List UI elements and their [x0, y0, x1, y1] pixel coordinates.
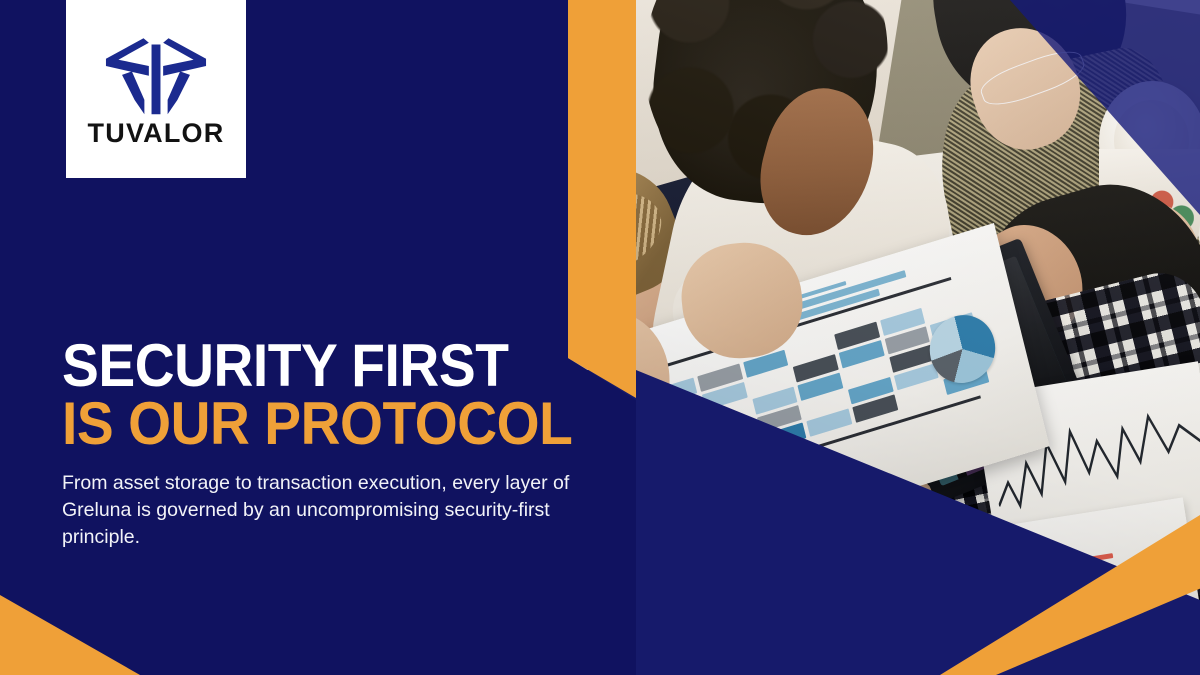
brand-wordmark: TUVALOR	[88, 120, 225, 147]
body-paragraph: From asset storage to transaction execut…	[62, 470, 610, 551]
headline-line-1: SECURITY FIRST	[62, 338, 586, 394]
headline-line-2: IS OUR PROTOCOL	[62, 396, 586, 452]
hbar	[1039, 553, 1113, 570]
brand-logo[interactable]: TUVALOR	[66, 0, 246, 178]
hero-copy: SECURITY FIRST IS OUR PROTOCOL From asse…	[62, 338, 632, 551]
tuvalor-arrow-mark-icon	[102, 32, 210, 116]
hbar	[1041, 568, 1096, 582]
banner-slide: TUVALOR SECURITY FIRST IS OUR PROTOCOL F…	[0, 0, 1200, 675]
